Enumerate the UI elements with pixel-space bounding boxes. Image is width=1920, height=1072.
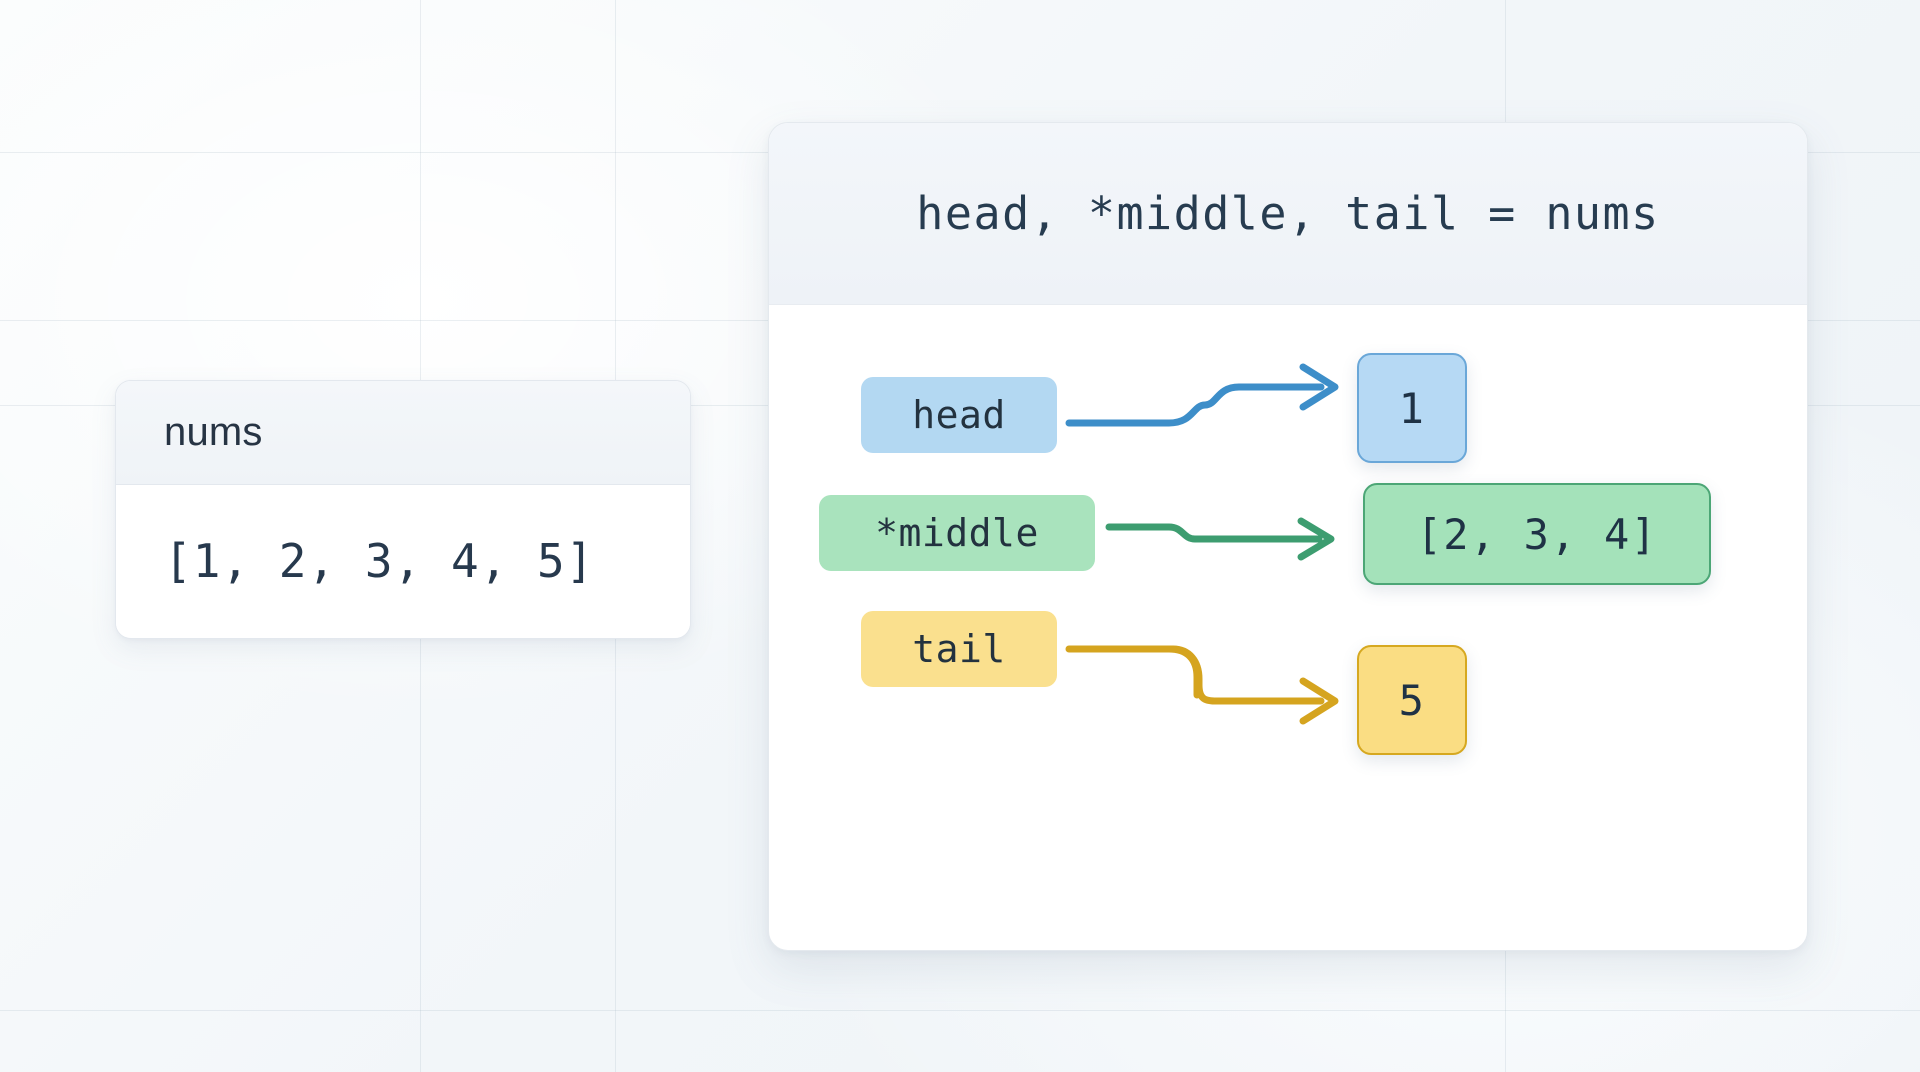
value-box-middle[interactable]: [2, 3, 4] <box>1363 483 1711 585</box>
code-statement: head, *middle, tail = nums <box>916 187 1659 240</box>
arrow-head-middle <box>1301 521 1331 557</box>
nums-variable-value: [1, 2, 3, 4, 5] <box>164 534 594 588</box>
arrow-head-head <box>1303 367 1335 407</box>
unpacking-diagram-card: head, *middle, tail = nums head 1 *middl… <box>768 122 1808 951</box>
nums-variable-name: nums <box>164 410 263 455</box>
nums-card-body: [1, 2, 3, 4, 5] <box>116 485 690 637</box>
variable-pill-head[interactable]: head <box>861 377 1057 453</box>
arrow-line-tail <box>1069 649 1321 701</box>
arrow-line-middle <box>1109 527 1319 539</box>
arrow-line-head <box>1069 387 1321 423</box>
variable-pill-tail[interactable]: tail <box>861 611 1057 687</box>
variable-pill-middle[interactable]: *middle <box>819 495 1095 571</box>
arrow-head-tail <box>1303 681 1335 721</box>
value-box-head[interactable]: 1 <box>1357 353 1467 463</box>
nums-variable-card: nums [1, 2, 3, 4, 5] <box>115 380 691 639</box>
diagram-area: head 1 *middle [2, 3, 4] tail 5 <box>769 305 1807 950</box>
grid-line-horizontal <box>0 1010 1920 1011</box>
nums-card-header: nums <box>116 381 690 485</box>
code-header-band: head, *middle, tail = nums <box>769 123 1807 305</box>
value-box-tail[interactable]: 5 <box>1357 645 1467 755</box>
